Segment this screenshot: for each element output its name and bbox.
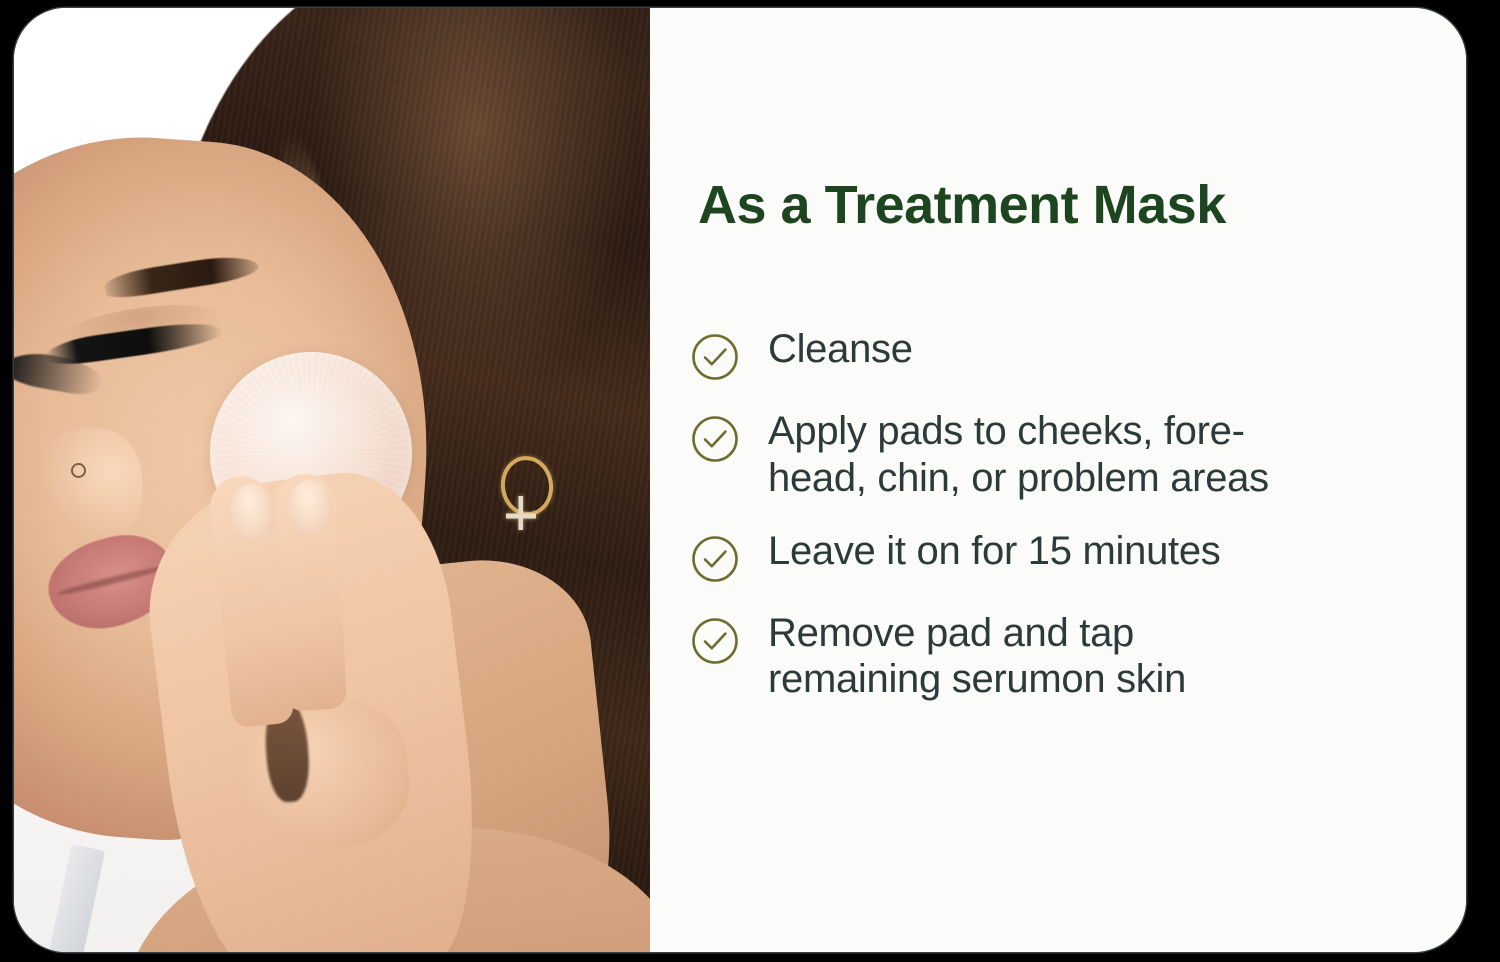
instruction-list: Cleanse Apply pads to cheeks, fore- head… (690, 326, 1434, 703)
page-title: As a Treatment Mask (698, 176, 1226, 235)
nose-ring-shape (71, 463, 86, 478)
top-strap-shape (45, 844, 105, 952)
list-item-label: Leave it on for 15 minutes (768, 528, 1220, 575)
check-circle-icon (690, 332, 740, 382)
check-circle-icon (690, 414, 740, 464)
photo-backdrop (14, 8, 650, 952)
list-item-label: Remove pad and tap remaining serumon ski… (768, 610, 1186, 704)
list-item: Leave it on for 15 minutes (690, 528, 1434, 584)
earring-charm-shape (506, 496, 536, 530)
check-circle-icon (690, 616, 740, 666)
list-item: Cleanse (690, 326, 1434, 382)
treatment-mask-card: As a Treatment Mask Cleanse (14, 8, 1466, 952)
check-circle-icon (690, 534, 740, 584)
nose-shape (32, 428, 142, 548)
instructions-panel: As a Treatment Mask Cleanse (650, 8, 1466, 952)
list-item: Remove pad and tap remaining serumon ski… (690, 610, 1434, 704)
product-photo (14, 8, 650, 952)
list-item: Apply pads to cheeks, fore- head, chin, … (690, 408, 1434, 502)
list-item-label: Cleanse (768, 326, 913, 373)
list-item-label: Apply pads to cheeks, fore- head, chin, … (768, 408, 1269, 502)
